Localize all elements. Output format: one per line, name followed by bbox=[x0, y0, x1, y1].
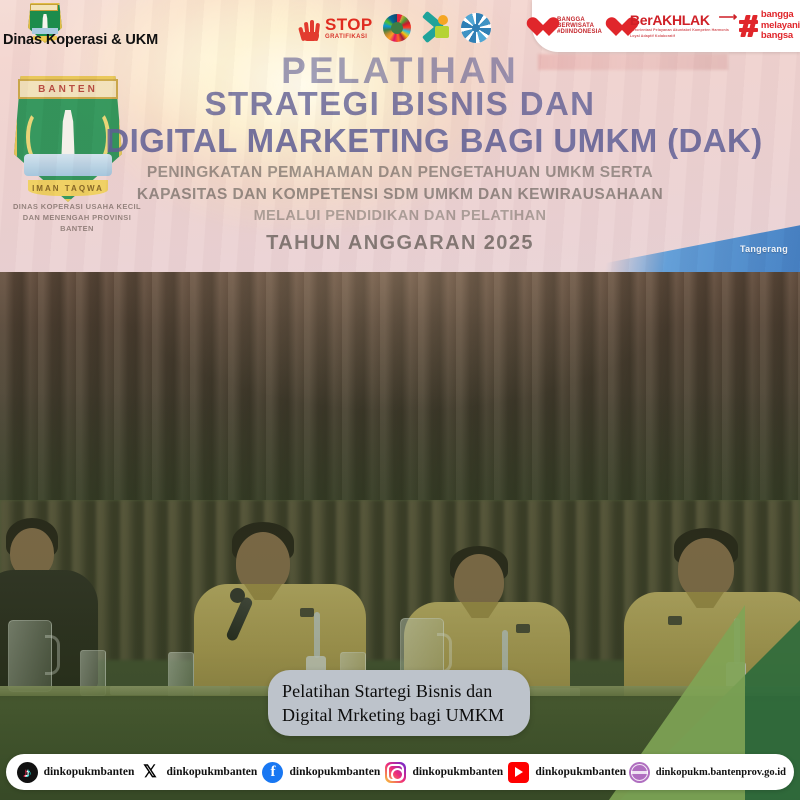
kemenkopukm-icon bbox=[421, 14, 451, 42]
tiktok-icon[interactable] bbox=[17, 762, 38, 783]
instagram-icon[interactable] bbox=[385, 762, 406, 783]
emblem-wreath-left bbox=[26, 110, 52, 164]
facebook-icon[interactable] bbox=[262, 762, 283, 783]
emblem-caption-text: DINAS KOPERASI USAHA KECIL DAN MENENGAH … bbox=[8, 202, 146, 235]
pinwheel-icon bbox=[461, 13, 491, 43]
banner-headline-3: DIGITAL MARKETING BAGI UMKM (DAK) bbox=[34, 122, 800, 160]
x-twitter-icon[interactable]: 𝕏 bbox=[140, 762, 161, 783]
emblem-motto-text: IMAN TAQWA bbox=[28, 180, 108, 196]
banner-top-logo-strip bbox=[538, 54, 728, 70]
banner-headline-2: STRATEGI BISNIS DAN bbox=[0, 85, 800, 123]
banner-subtitle-2: KAPASITAS DAN KOMPETENSI SDM UMKM DAN KE… bbox=[0, 186, 800, 204]
name-badge bbox=[668, 616, 682, 625]
social-link-x[interactable]: 𝕏 dinkopukmbanten bbox=[137, 762, 260, 783]
youtube-handle: dinkopukmbanten bbox=[535, 766, 626, 778]
bangga-line-3: #DIINDONESIA bbox=[557, 29, 602, 35]
person-right bbox=[642, 528, 800, 703]
stop-label: STOP bbox=[325, 16, 373, 33]
melayani-line-3: bangsa bbox=[761, 31, 800, 42]
social-link-youtube[interactable]: dinkopukmbanten bbox=[506, 762, 629, 783]
sdg-wheel-icon bbox=[383, 14, 411, 42]
banner-location-label: Tangerang bbox=[740, 244, 788, 254]
emblem-tower-icon bbox=[58, 110, 78, 162]
photo-caption: Pelatihan Startegi Bisnis dan Digital Mr… bbox=[268, 670, 530, 736]
banner-blue-swoosh bbox=[560, 212, 800, 272]
water-pitcher bbox=[8, 620, 52, 692]
emblem-wreath-right bbox=[84, 110, 110, 164]
banner-subtitle-1: PENINGKATAN PEMAHAMAN DAN PENGETAHUAN UM… bbox=[0, 164, 800, 182]
website-icon[interactable] bbox=[629, 762, 650, 783]
emblem-band bbox=[30, 4, 58, 11]
stop-gratifikasi-logo: STOP GRATIFIKASI bbox=[300, 15, 373, 41]
poster-root: Tangerang BANTEN IMAN TAQWA DINAS KOPERA… bbox=[0, 0, 800, 800]
bangga-melayani-bangsa-logo: bangga melayani bangsa bbox=[739, 10, 800, 42]
lanyard bbox=[734, 618, 740, 664]
social-link-facebook[interactable]: dinkopukmbanten bbox=[260, 762, 383, 783]
tiktok-handle: dinkopukmbanten bbox=[44, 766, 135, 778]
x-handle: dinkopukmbanten bbox=[167, 766, 258, 778]
header-logo-row: STOP GRATIFIKASI bbox=[300, 6, 491, 50]
emblem-shield bbox=[14, 76, 122, 202]
berakhlak-logo: BerAKHLAK⟶ Berorientasi Pelayanan Akunta… bbox=[611, 13, 730, 39]
id-card bbox=[726, 662, 746, 688]
social-link-tiktok[interactable]: dinkopukmbanten bbox=[14, 762, 137, 783]
instagram-handle: dinkopukmbanten bbox=[412, 766, 503, 778]
lanyard bbox=[314, 612, 320, 658]
caption-line-2: Digital Mrketing bagi UMKM bbox=[282, 705, 504, 725]
header-right-logo-panel: BANGGA BERWISATA #DIINDONESIA BerAKHLAK⟶… bbox=[532, 0, 800, 52]
stop-hand-icon bbox=[300, 15, 322, 41]
name-badge bbox=[516, 624, 530, 633]
bangga-berwisata-di-indonesia-logo: BANGGA BERWISATA #DIINDONESIA bbox=[532, 15, 602, 37]
banner-headline-1: PELATIHAN bbox=[0, 50, 800, 92]
caption-line-1: Pelatihan Startegi Bisnis dan bbox=[282, 681, 492, 701]
social-link-website[interactable]: dinkopukm.bantenprov.go.id bbox=[629, 762, 786, 783]
berakhlak-title: BerAKHLAK⟶ bbox=[630, 13, 730, 27]
heart-icon bbox=[611, 15, 627, 37]
person-head bbox=[678, 538, 734, 600]
facebook-handle: dinkopukmbanten bbox=[289, 766, 380, 778]
microphone-head bbox=[230, 588, 245, 603]
banner-year: TAHUN ANGGARAN 2025 bbox=[0, 232, 800, 255]
org-title: Dinas Koperasi & UKM bbox=[3, 32, 158, 48]
name-badge bbox=[300, 608, 314, 617]
youtube-icon[interactable] bbox=[508, 762, 529, 783]
heart-icon bbox=[532, 15, 555, 37]
poster-header: Dinas Koperasi & UKM STOP GRATIFIKASI bbox=[0, 0, 800, 56]
gratifikasi-label: GRATIFIKASI bbox=[325, 34, 373, 40]
banner-subtitle-3: MELALUI PENDIDIKAN DAN PELATIHAN bbox=[0, 208, 800, 224]
social-media-bar: dinkopukmbanten 𝕏 dinkopukmbanten dinkop… bbox=[6, 754, 794, 790]
social-link-instagram[interactable]: dinkopukmbanten bbox=[383, 762, 506, 783]
website-url: dinkopukm.bantenprov.go.id bbox=[656, 767, 786, 778]
emblem-water bbox=[24, 154, 112, 176]
hashtag-icon bbox=[739, 15, 758, 37]
emblem-band-text: BANTEN bbox=[18, 79, 118, 99]
banner-banten-emblem: BANTEN IMAN TAQWA DINAS KOPERASI USAHA K… bbox=[8, 76, 128, 216]
berakhlak-tagline: Berorientasi Pelayanan Akuntabel Kompete… bbox=[630, 28, 730, 39]
